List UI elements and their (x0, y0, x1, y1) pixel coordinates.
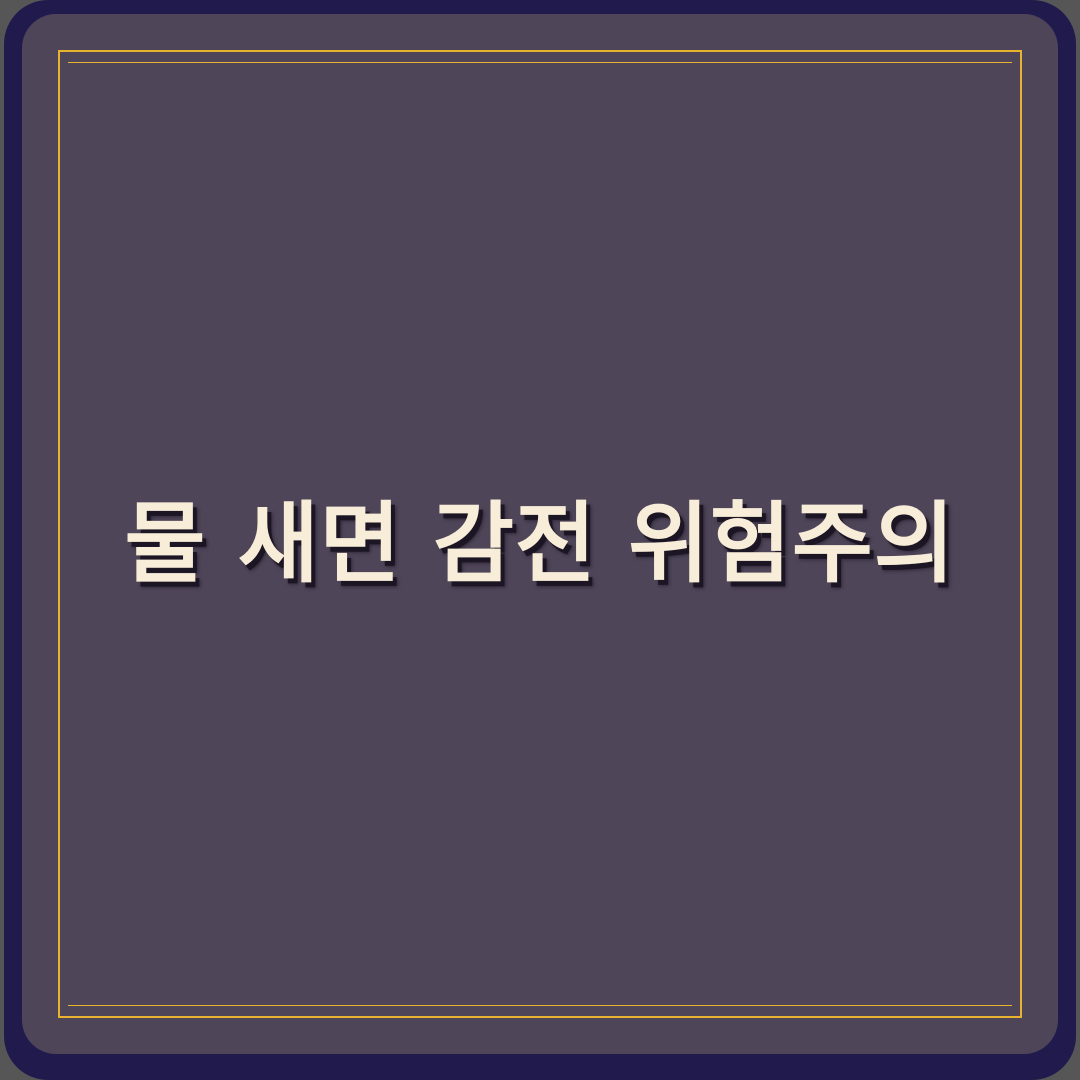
poster-canvas: 물 새면 감전 위험주의 (0, 0, 1080, 1080)
poster-title: 물 새면 감전 위험주의 (124, 492, 955, 596)
gold-outer-border (58, 50, 1022, 1018)
gold-inner-rule-bottom (68, 1005, 1012, 1006)
card-navy-border: 물 새면 감전 위험주의 (4, 0, 1076, 1080)
gold-inner-rule-top (68, 62, 1012, 63)
title-container: 물 새면 감전 위험주의 (58, 14, 1022, 1054)
card-inner-panel: 물 새면 감전 위험주의 (22, 14, 1058, 1054)
